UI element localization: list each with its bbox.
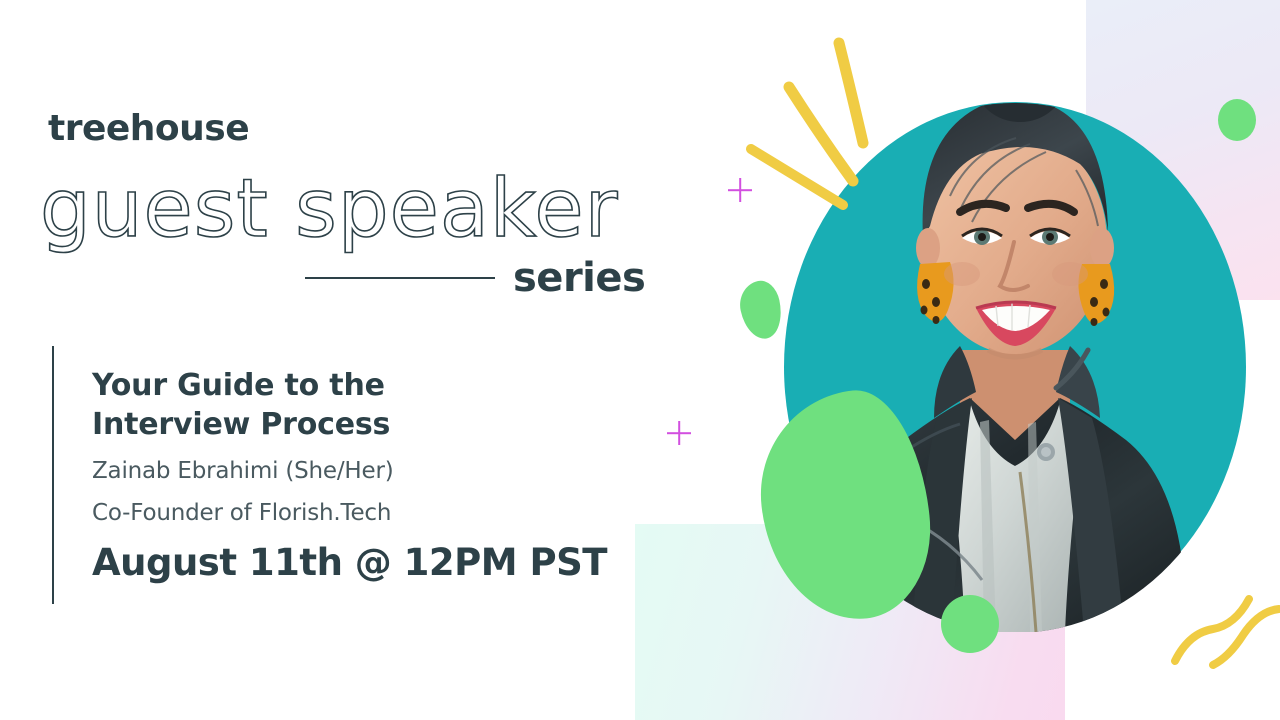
series-divider-rule [305,277,495,279]
series-row: series [305,253,625,303]
brand-wordmark: treehouse [48,108,249,149]
yellow-burst-strokes [735,25,915,240]
speaker-name: Zainab Ebrahimi (She/Her) [92,456,612,486]
headline-outline: guest speaker [40,162,618,255]
slide-canvas: treehouse guest speaker series Your Guid… [0,0,1280,720]
green-blob-small-shape [735,277,786,342]
session-datetime: August 11th @ 12PM PST [92,540,612,586]
vertical-accent-rule [52,346,54,604]
green-dot-bottom-shape [941,595,999,653]
session-title-line-2: Interview Process [92,405,612,444]
yellow-wavy-lines [1165,585,1280,720]
series-word: series [513,255,645,301]
session-title-line-1: Your Guide to the [92,366,612,405]
session-info-block: Your Guide to the Interview Process Zain… [92,366,612,586]
plus-mark-lower-icon [667,421,691,445]
plus-mark-upper-icon [728,178,752,202]
green-dot-top-right-shape [1218,99,1256,141]
speaker-role: Co-Founder of Florish.Tech [92,498,612,528]
